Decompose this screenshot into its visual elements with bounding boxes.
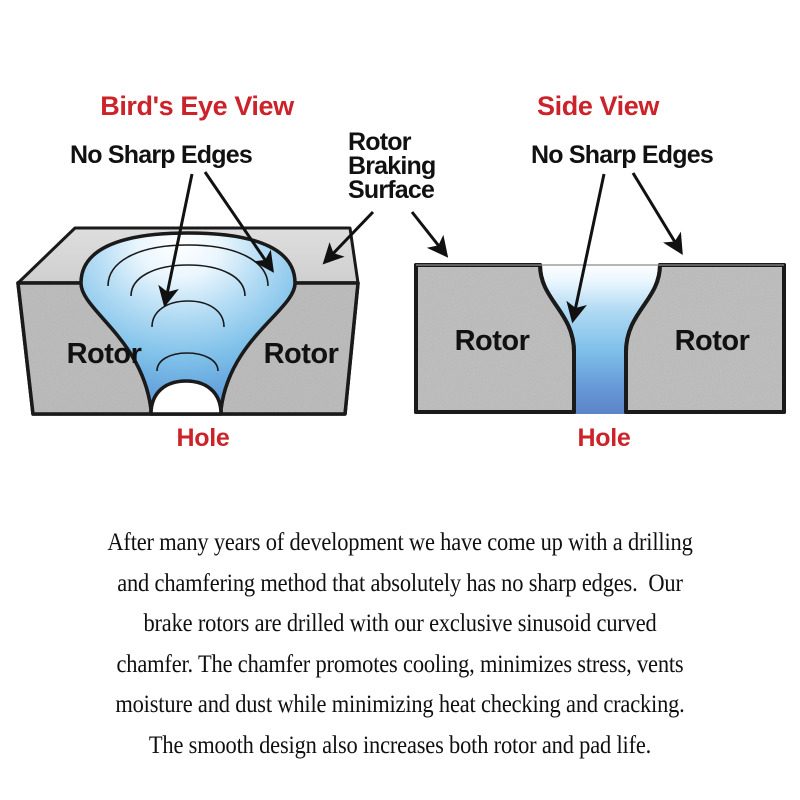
no-sharp-edges-label-left: No Sharp Edges (70, 141, 252, 169)
no-sharp-edges-label-right: No Sharp Edges (531, 141, 713, 169)
rotor-braking-surface-label-line3: Surface (348, 176, 435, 204)
caption-line-4: chamfer. The chamfer promotes cooling, m… (48, 644, 752, 685)
side-view-block: Rotor Rotor (416, 263, 784, 414)
rotor-label-left-a: Rotor (67, 338, 142, 370)
arrow-no-sharp-edges-right-2 (633, 173, 681, 252)
hole-label-right: Hole (578, 424, 631, 452)
caption-line-5: moisture and dust while minimizing heat … (48, 684, 752, 725)
diagram-page: Bird's Eye View Side View No Sharp Edges… (0, 0, 800, 800)
birds-eye-view-block: Rotor Rotor (18, 228, 358, 414)
caption-line-6: The smooth design also increases both ro… (48, 725, 752, 766)
rotor-label-right-a: Rotor (455, 325, 530, 357)
side-view-title: Side View (537, 91, 660, 121)
description-paragraph: After many years of development we have … (48, 522, 752, 765)
caption-line-1: After many years of development we have … (48, 522, 752, 563)
rotor-chamfer-diagram: Bird's Eye View Side View No Sharp Edges… (0, 0, 800, 490)
caption-line-2: and chamfering method that absolutely ha… (48, 563, 752, 604)
hole-label-left: Hole (177, 424, 230, 452)
birds-eye-view-title: Bird's Eye View (100, 91, 295, 121)
rotor-label-left-b: Rotor (264, 338, 339, 370)
caption-line-3: brake rotors are drilled with our exclus… (48, 603, 752, 644)
rotor-label-right-b: Rotor (675, 325, 750, 357)
arrow-rotor-braking-surface-right (412, 212, 446, 255)
